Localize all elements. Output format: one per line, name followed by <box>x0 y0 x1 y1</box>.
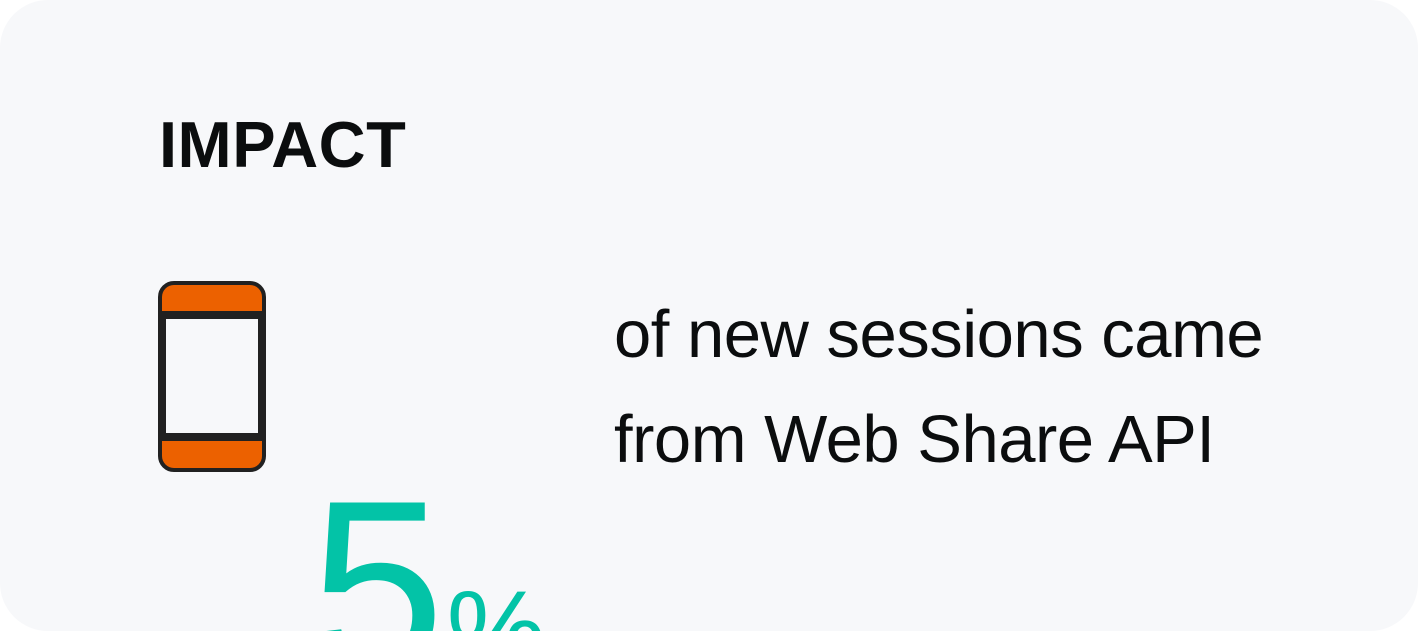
page-title: IMPACT <box>159 112 406 177</box>
metric-unit: % <box>447 575 547 631</box>
metric-value: 5 <box>310 465 441 631</box>
metric-description-line-1: of new sessions came <box>614 282 1334 387</box>
mobile-phone-icon <box>158 281 266 472</box>
impact-stat-card: IMPACT 5 % of new sessions came from Web… <box>0 0 1418 631</box>
metric-description-line-2: from Web Share API <box>614 387 1334 492</box>
metric-description: of new sessions came from Web Share API <box>614 282 1334 492</box>
metric-figure: 5 % <box>310 281 540 472</box>
